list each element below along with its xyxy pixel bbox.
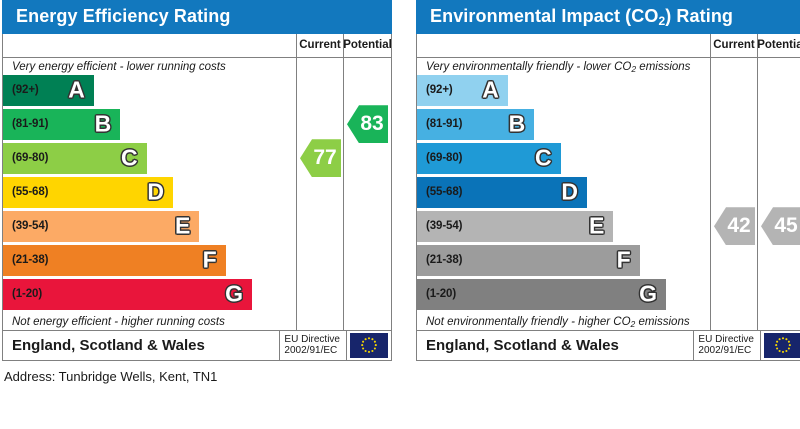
energy-footer: England, Scotland & Wales EU Directive 2… (3, 330, 391, 360)
band-range-c: (69-80) (417, 152, 462, 164)
environmental-top-caption-post: emissions (636, 61, 690, 73)
energy-top-caption: Very energy efficient - lower running co… (3, 58, 296, 75)
energy-current-rating-badge: 77 (300, 139, 341, 177)
band-range-a: (92+) (417, 84, 453, 96)
environmental-current-rating-badge: 42 (714, 207, 755, 245)
band-bar-a: (92+)A (3, 75, 94, 106)
band-range-c: (69-80) (3, 152, 48, 164)
energy-directive-line2: 2002/91/EC (284, 345, 340, 357)
band-letter-a: A (68, 79, 85, 102)
band-bar-g: (1-20)G (417, 279, 666, 310)
environmental-title-subscript: 2 (658, 14, 665, 28)
property-address: Address: Tunbridge Wells, Kent, TN1 (4, 369, 217, 384)
environmental-chart-title: Environmental Impact (CO2) Rating (416, 0, 800, 34)
band-letter-g: G (225, 283, 243, 306)
environmental-column-header-row: Current Potential (417, 34, 800, 58)
environmental-graph-area: Very environmentally friendly - lower CO… (417, 58, 800, 330)
band-range-e: (39-54) (3, 220, 48, 232)
band-bar-a: (92+)A (417, 75, 508, 106)
energy-chart-title-text: Energy Efficiency Rating (16, 6, 230, 26)
band-range-e: (39-54) (417, 220, 462, 232)
band-range-g: (1-20) (417, 288, 456, 300)
energy-bottom-caption: Not energy efficient - higher running co… (3, 313, 296, 330)
band-bar-c: (69-80)C (3, 143, 147, 174)
environmental-top-caption-pre: Very environmentally friendly - lower CO (426, 61, 631, 73)
epc-page: Energy Efficiency Rating Current Potenti… (0, 0, 800, 429)
band-range-b: (81-91) (417, 118, 462, 130)
energy-column-header-row: Current Potential (3, 34, 391, 58)
environmental-impact-chart: Environmental Impact (CO2) Rating Curren… (416, 0, 800, 361)
environmental-title-tail: ) Rating (665, 6, 733, 26)
energy-potential-value-column: 83 (344, 58, 391, 330)
environmental-potential-column-header: Potential (758, 34, 800, 57)
band-bar-b: (81-91)B (3, 109, 120, 140)
environmental-chart-body: Current Potential Very environmentally f… (416, 34, 800, 361)
environmental-bottom-caption-sub: 2 (631, 319, 636, 329)
environmental-directive-line2: 2002/91/EC (698, 345, 754, 357)
energy-graph-area: Very energy efficient - lower running co… (3, 58, 391, 330)
environmental-eu-directive: EU Directive 2002/91/EC (693, 331, 760, 360)
band-bar-c: (69-80)C (417, 143, 561, 174)
band-letter-e: E (589, 215, 604, 238)
band-bar-b: (81-91)B (417, 109, 534, 140)
band-letter-d: D (561, 181, 578, 204)
environmental-footer: England, Scotland & Wales EU Directive 2… (417, 330, 800, 360)
environmental-band-list: (92+)A(81-91)B(69-80)C(55-68)D(39-54)E(2… (417, 75, 710, 310)
environmental-current-column-header: Current (711, 34, 758, 57)
band-bar-e: (39-54)E (3, 211, 199, 242)
eu-flag-icon (760, 331, 800, 360)
band-letter-g: G (639, 283, 657, 306)
energy-potential-column-header: Potential (344, 34, 391, 57)
band-bar-d: (55-68)D (417, 177, 587, 208)
band-range-a: (92+) (3, 84, 39, 96)
energy-chart-title: Energy Efficiency Rating (2, 0, 392, 34)
band-bar-g: (1-20)G (3, 279, 252, 310)
energy-band-list: (92+)A(81-91)B(69-80)C(55-68)D(39-54)E(2… (3, 75, 296, 310)
environmental-top-caption-sub: 2 (631, 64, 636, 74)
energy-colhead-spacer (3, 34, 297, 57)
band-range-f: (21-38) (3, 254, 48, 266)
energy-current-value-column: 77 (297, 58, 344, 330)
environmental-bottom-caption: Not environmentally friendly - higher CO… (417, 313, 710, 330)
energy-region-label: England, Scotland & Wales (3, 331, 279, 360)
environmental-current-value-column: 42 (711, 58, 758, 330)
environmental-chart-title-text: Environmental Impact (CO (430, 6, 658, 26)
eu-flag-icon (346, 331, 391, 360)
band-letter-f: F (203, 249, 217, 272)
band-letter-c: C (121, 147, 138, 170)
environmental-bands-column: Very environmentally friendly - lower CO… (417, 58, 711, 330)
band-bar-f: (21-38)F (417, 245, 640, 276)
band-letter-d: D (147, 181, 164, 204)
band-bar-e: (39-54)E (417, 211, 613, 242)
energy-potential-rating-badge: 83 (347, 105, 388, 143)
band-range-f: (21-38) (417, 254, 462, 266)
band-letter-f: F (617, 249, 631, 272)
environmental-potential-rating-badge: 45 (761, 207, 800, 245)
band-range-g: (1-20) (3, 288, 42, 300)
band-letter-b: B (95, 113, 112, 136)
environmental-bottom-caption-post: emissions (635, 316, 689, 328)
band-letter-a: A (482, 79, 499, 102)
environmental-directive-line1: EU Directive (698, 334, 754, 346)
band-bar-d: (55-68)D (3, 177, 173, 208)
environmental-region-label: England, Scotland & Wales (417, 331, 693, 360)
energy-bands-column: Very energy efficient - lower running co… (3, 58, 297, 330)
band-letter-c: C (535, 147, 552, 170)
energy-current-column-header: Current (297, 34, 344, 57)
energy-directive-line1: EU Directive (284, 334, 340, 346)
band-range-d: (55-68) (3, 186, 48, 198)
band-range-b: (81-91) (3, 118, 48, 130)
environmental-bottom-caption-pre: Not environmentally friendly - higher CO (426, 316, 631, 328)
band-letter-e: E (175, 215, 190, 238)
environmental-potential-value-column: 45 (758, 58, 800, 330)
energy-chart-body: Current Potential Very energy efficient … (2, 34, 392, 361)
band-bar-f: (21-38)F (3, 245, 226, 276)
environmental-colhead-spacer (417, 34, 711, 57)
energy-efficiency-chart: Energy Efficiency Rating Current Potenti… (2, 0, 392, 361)
band-range-d: (55-68) (417, 186, 462, 198)
energy-eu-directive: EU Directive 2002/91/EC (279, 331, 346, 360)
environmental-top-caption: Very environmentally friendly - lower CO… (417, 58, 710, 75)
band-letter-b: B (509, 113, 526, 136)
